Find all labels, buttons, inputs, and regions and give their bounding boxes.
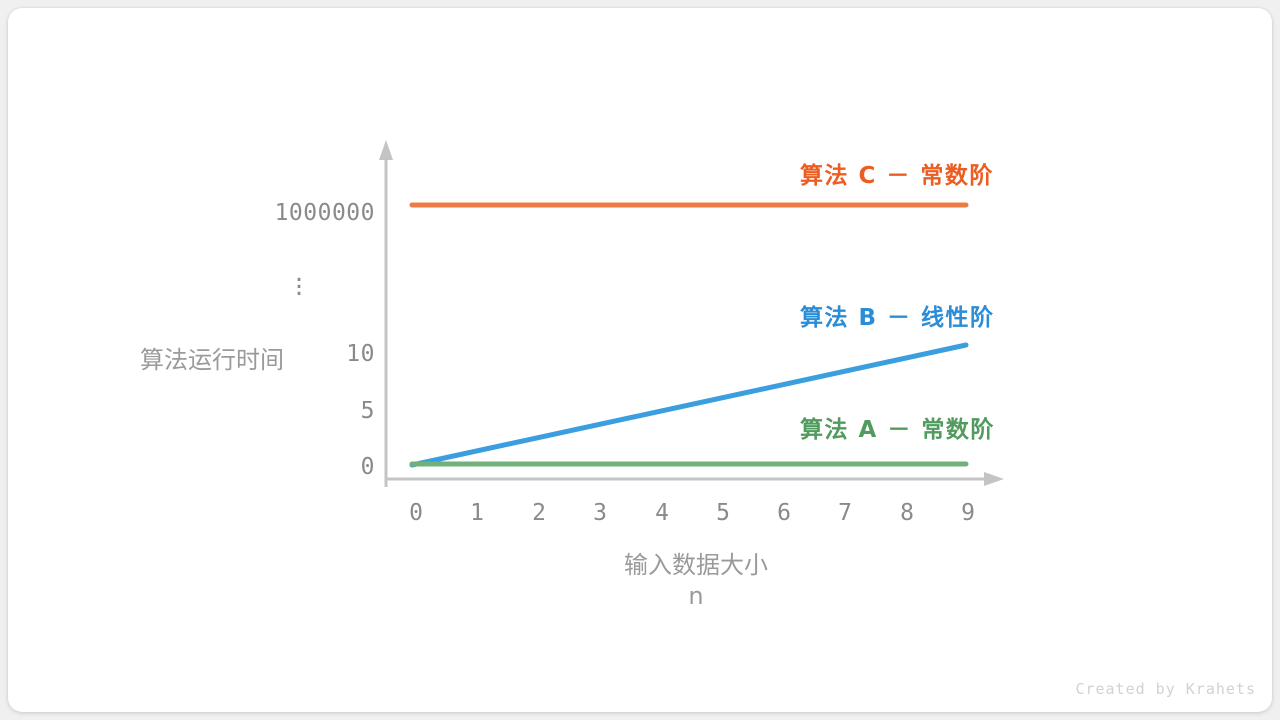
y-tick-label-1000000: 1000000 — [223, 200, 375, 226]
x-tick-label-5: 5 — [699, 500, 747, 526]
x-tick-label-3: 3 — [576, 500, 624, 526]
y-tick-label-0: 0 — [223, 454, 375, 480]
y-axis — [379, 140, 393, 487]
x-tick-label-6: 6 — [760, 500, 808, 526]
y-axis-ellipsis-icon: ... — [223, 270, 375, 291]
watermark-credit: Created by Krahets — [1075, 680, 1256, 698]
series-label-a: 算法 A － 常数阶 — [800, 410, 995, 444]
series-label-b: 算法 B － 线性阶 — [800, 298, 995, 332]
x-tick-label-8: 8 — [883, 500, 931, 526]
x-tick-label-1: 1 — [453, 500, 501, 526]
chart-card: 算法运行时间 1000000 ... 10 5 0 0 1 2 3 4 5 6 … — [8, 8, 1272, 712]
x-axis — [386, 472, 1004, 486]
x-tick-label-9: 9 — [944, 500, 992, 526]
x-tick-label-2: 2 — [515, 500, 563, 526]
series-label-c: 算法 C － 常数阶 — [800, 156, 994, 190]
x-tick-label-7: 7 — [821, 500, 869, 526]
y-tick-label-10: 10 — [223, 341, 375, 367]
x-tick-label-4: 4 — [638, 500, 686, 526]
y-tick-label-5: 5 — [223, 398, 375, 424]
x-axis-variable-label: n — [540, 582, 852, 610]
x-tick-label-0: 0 — [392, 500, 440, 526]
series-line-b — [412, 345, 966, 465]
x-axis-title: 输入数据大小 — [540, 545, 852, 580]
